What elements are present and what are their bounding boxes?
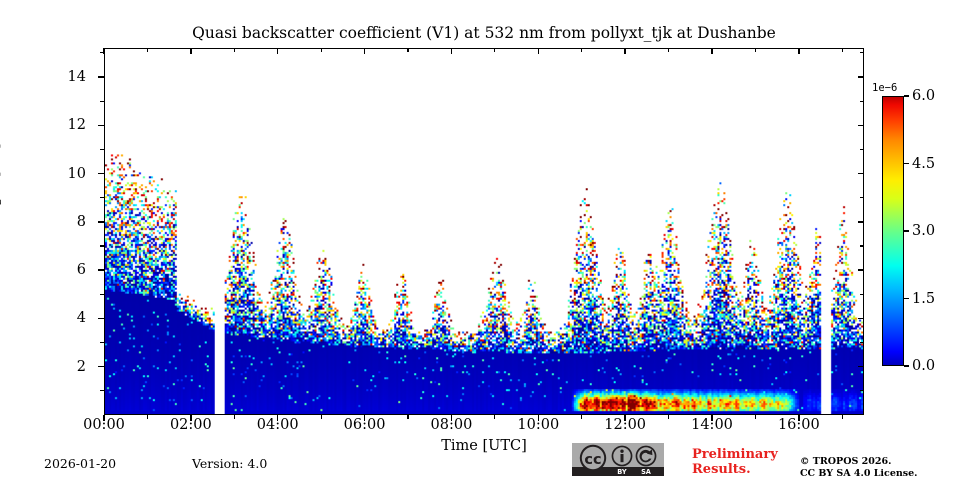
creative-commons-badge-icon[interactable]: cc BY SA (572, 443, 664, 476)
y-tick-mark (98, 221, 104, 222)
y-tick-mark-minor (100, 245, 104, 246)
y-tick-mark (98, 125, 104, 126)
y-tick-mark-minor (100, 149, 104, 150)
x-tick-mark-minor (234, 415, 235, 419)
x-tick-mark (624, 415, 625, 421)
lidar-quasi-backscatter-figure: Quasi backscatter coefficient (V1) at 53… (0, 0, 960, 480)
x-tick-mark-minor (581, 48, 582, 52)
x-tick-mark (277, 415, 278, 421)
x-tick-mark-minor (842, 415, 843, 419)
x-tick-mark (277, 48, 278, 54)
preliminary-line-1: Preliminary (692, 448, 778, 463)
preliminary-line-2: Results. (692, 463, 778, 478)
colorbar-tick-mark (904, 298, 909, 299)
badge-by-label: BY (617, 468, 627, 476)
colorbar-tick-mark (904, 230, 909, 231)
y-tick-mark (98, 269, 104, 270)
y-tick-mark-minor (860, 101, 864, 102)
page-title: Quasi backscatter coefficient (V1) at 53… (104, 24, 864, 42)
x-tick-mark (103, 415, 104, 421)
copyright-line-2: CC BY SA 4.0 License. (800, 468, 917, 480)
x-tick-mark (711, 48, 712, 54)
heatmap-data-canvas (105, 49, 863, 414)
y-tick-label: 6 (46, 263, 86, 278)
footer-date: 2026-01-20 (44, 456, 116, 471)
x-tick-mark (103, 48, 104, 54)
y-tick-mark (98, 76, 104, 77)
x-tick-mark-minor (407, 48, 408, 52)
y-tick-mark (858, 366, 864, 367)
y-tick-mark (858, 173, 864, 174)
y-tick-label: 4 (46, 311, 86, 326)
x-tick-mark (711, 415, 712, 421)
y-tick-mark (98, 173, 104, 174)
copyright-line-1: © TROPOS 2026. (800, 456, 917, 468)
x-tick-mark-minor (321, 48, 322, 52)
y-tick-mark-minor (860, 245, 864, 246)
y-tick-mark (858, 76, 864, 77)
x-tick-mark (364, 48, 365, 54)
x-tick-mark-minor (581, 415, 582, 419)
x-tick-mark (798, 415, 799, 421)
x-tick-mark (190, 415, 191, 421)
x-tick-mark-minor (755, 48, 756, 52)
y-tick-mark (858, 221, 864, 222)
y-tick-label: 10 (46, 166, 86, 181)
y-tick-mark (98, 366, 104, 367)
x-tick-mark-minor (755, 415, 756, 419)
y-axis-label: Height [km] (0, 143, 2, 232)
y-tick-mark (858, 318, 864, 319)
x-tick-mark (364, 415, 365, 421)
plot-axes[interactable] (104, 48, 864, 415)
colorbar-tick-label: 6.0 (912, 89, 935, 104)
x-tick-mark (451, 415, 452, 421)
x-tick-mark (538, 415, 539, 421)
x-tick-mark (624, 48, 625, 54)
colorbar-tick-label: 0.0 (912, 359, 935, 374)
x-tick-mark-minor (494, 48, 495, 52)
x-tick-mark-minor (234, 48, 235, 52)
y-tick-mark-minor (100, 294, 104, 295)
y-tick-mark-minor (860, 294, 864, 295)
y-tick-label: 12 (46, 118, 86, 133)
y-tick-mark (858, 125, 864, 126)
y-tick-mark-minor (860, 342, 864, 343)
y-tick-label: 14 (46, 70, 86, 85)
y-tick-mark-minor (860, 52, 864, 53)
preliminary-results-notice: Preliminary Results. (692, 448, 778, 477)
y-tick-mark-minor (860, 197, 864, 198)
y-tick-label: 8 (46, 215, 86, 230)
svg-text:cc: cc (584, 452, 601, 468)
colorbar-exponent-label: 1e−6 (872, 82, 897, 94)
x-tick-mark-minor (494, 415, 495, 419)
colorbar-tick-mark (904, 163, 909, 164)
colorbar-gradient (882, 96, 904, 366)
x-tick-mark-minor (321, 415, 322, 419)
x-tick-mark-minor (147, 415, 148, 419)
x-tick-mark (798, 48, 799, 54)
x-tick-mark (538, 48, 539, 54)
x-tick-mark-minor (147, 48, 148, 52)
y-tick-mark-minor (860, 149, 864, 150)
x-tick-mark-minor (668, 415, 669, 419)
badge-sa-label: SA (641, 468, 652, 476)
colorbar-tick-label: 4.5 (912, 156, 935, 171)
colorbar-tick-label: 1.5 (912, 291, 935, 306)
copyright-notice: © TROPOS 2026. CC BY SA 4.0 License. (800, 456, 917, 480)
x-tick-mark (190, 48, 191, 54)
x-tick-mark (451, 48, 452, 54)
x-tick-mark-minor (842, 48, 843, 52)
y-tick-mark-minor (100, 101, 104, 102)
y-tick-mark (98, 318, 104, 319)
y-tick-mark-minor (100, 197, 104, 198)
colorbar[interactable] (882, 96, 904, 366)
colorbar-tick-mark (904, 95, 909, 96)
colorbar-tick-label: 3.0 (912, 224, 935, 239)
y-tick-mark-minor (860, 390, 864, 391)
colorbar-tick-mark (904, 365, 909, 366)
y-tick-label: 2 (46, 359, 86, 374)
y-tick-mark-minor (100, 342, 104, 343)
y-tick-mark-minor (100, 390, 104, 391)
x-tick-mark-minor (668, 48, 669, 52)
x-tick-mark-minor (407, 415, 408, 419)
y-tick-mark (858, 269, 864, 270)
footer-version: Version: 4.0 (192, 456, 267, 471)
